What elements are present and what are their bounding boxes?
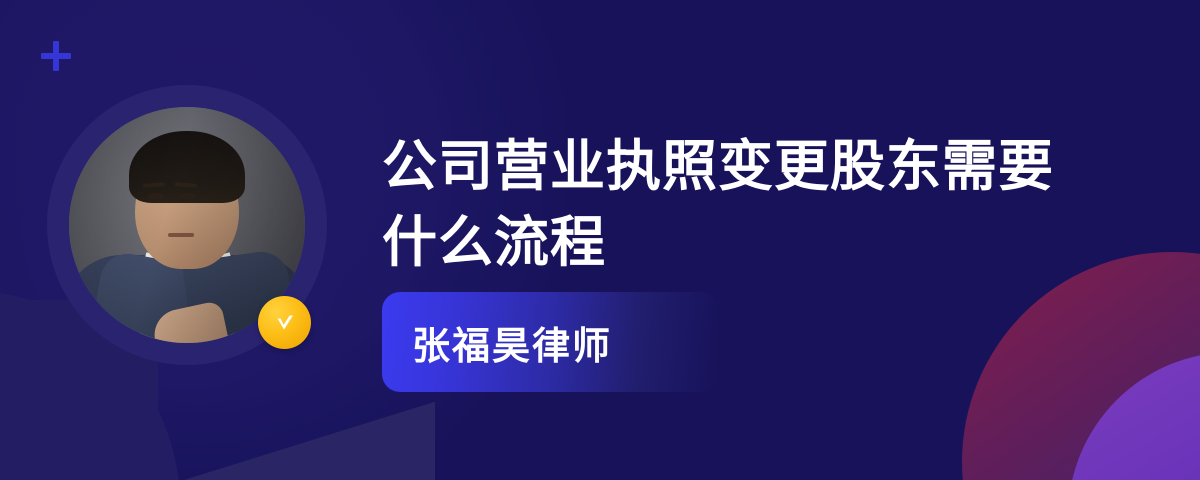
banner-content: 公司营业执照变更股东需要什么流程 张福昊律师: [382, 0, 1082, 480]
plus-icon: [41, 41, 71, 71]
avatar: [47, 85, 327, 365]
page-title: 公司营业执照变更股东需要什么流程: [382, 128, 1072, 280]
author-name: 张福昊律师: [382, 315, 612, 370]
author-badge[interactable]: 张福昊律师: [382, 292, 718, 392]
promo-banner: 公司营业执照变更股东需要什么流程 张福昊律师: [0, 0, 1200, 480]
verified-check-icon: [258, 296, 311, 349]
